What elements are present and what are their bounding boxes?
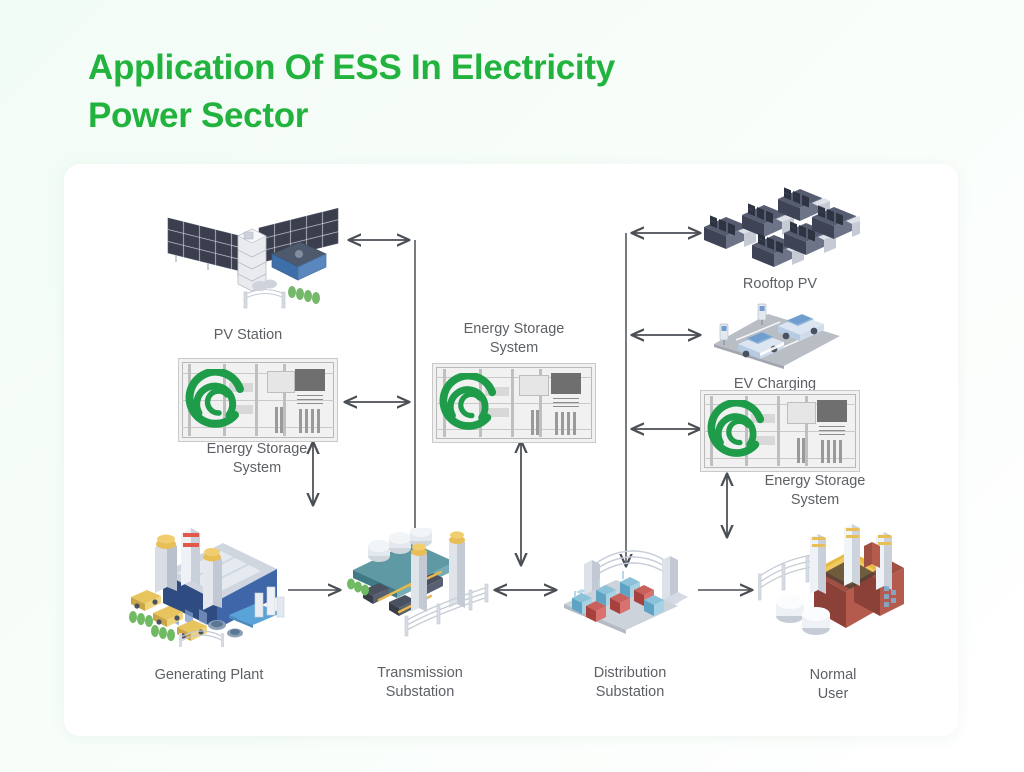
label-pv-station: PV Station [178,326,318,345]
ess-logo-icon [707,400,767,460]
pv-station-icon [160,196,340,314]
label-ess-right: Energy Storage System [740,472,890,509]
page-title-line-1: Application Of ESS In Electricity [88,48,615,87]
node-generating-plant[interactable] [125,525,293,647]
label-transmission-substation: Transmission Substation [340,664,500,701]
label-rooftop-pv: Rooftop PV [700,275,860,294]
node-transmission-substation[interactable] [345,528,497,640]
ess-logo-icon [439,373,499,433]
rooftop-pv-icon [700,183,860,275]
normal-user-icon [758,524,908,644]
node-ev-charging[interactable] [706,300,848,372]
ess-logo-icon [185,369,247,431]
generating-plant-icon [125,525,293,647]
page-title-line-2: Power Sector [88,92,728,140]
node-pv-station[interactable] [160,196,340,314]
page-root: Application Of ESS In Electricity Power … [0,0,1024,772]
ev-charging-icon [706,300,848,372]
label-normal-user: Normal User [758,666,908,703]
node-rooftop-pv[interactable] [700,183,860,275]
node-ess-left[interactable] [178,358,336,440]
distribution-substation-icon [560,530,700,642]
node-ess-right[interactable] [700,390,858,470]
ess-left-container [178,358,338,442]
label-ess-center: Energy Storage System [435,320,593,357]
label-ess-left: Energy Storage System [177,440,337,477]
node-distribution-substation[interactable] [560,530,700,642]
ess-center-container [432,363,596,443]
label-generating-plant: Generating Plant [125,666,293,685]
page-title: Application Of ESS In Electricity Power … [88,44,728,141]
node-ess-center[interactable] [432,363,594,441]
ess-right-container [700,390,860,472]
node-normal-user[interactable] [758,524,908,644]
transmission-substation-icon [345,528,497,640]
label-distribution-substation: Distribution Substation [552,664,708,701]
